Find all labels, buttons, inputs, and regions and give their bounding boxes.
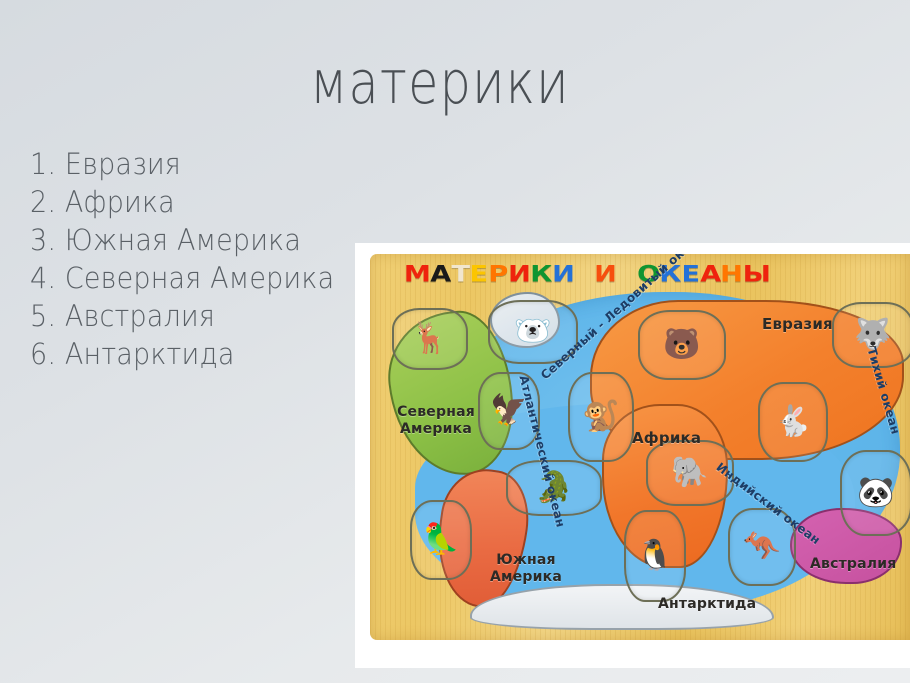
headline-letter: А xyxy=(430,265,452,287)
list-item: 6. Антарктида xyxy=(30,335,334,373)
continent-list: 1. Евразия 2. Африка 3. Южная Америка 4.… xyxy=(30,145,334,373)
penguin-piece[interactable]: 🐧 xyxy=(624,510,686,602)
polar-bear-icon: 🐻‍❄️ xyxy=(514,317,551,347)
page-title: материки xyxy=(79,52,801,115)
parrot-piece[interactable]: 🦜 xyxy=(410,500,472,580)
photo-bottom-margin xyxy=(355,640,910,668)
hare-piece[interactable]: 🐇 xyxy=(758,382,828,462)
moose-icon: 🦌 xyxy=(411,324,448,354)
list-item: 5. Австралия xyxy=(30,297,334,335)
headline-letter: К xyxy=(530,265,553,287)
board-label-australia: Австралия xyxy=(810,556,896,573)
list-item: 1. Евразия xyxy=(30,145,334,183)
penguin-icon: 🐧 xyxy=(636,541,673,571)
board-label-africa: Африка xyxy=(632,430,701,448)
list-item: 2. Африка xyxy=(30,183,334,221)
headline-letter: М xyxy=(404,265,432,287)
panda-icon: 🐼 xyxy=(857,478,894,508)
wooden-puzzle-board: М А Т Е Р И К И И О К Е А Н Ы xyxy=(370,254,910,640)
list-item: 4. Северная Америка xyxy=(30,259,334,297)
list-item: 3. Южная Америка xyxy=(30,221,334,259)
photo-top-margin xyxy=(355,243,910,254)
hare-icon: 🐇 xyxy=(774,407,811,437)
monkey-icon: 🐒 xyxy=(582,402,619,432)
headline-letter: И xyxy=(508,265,532,287)
headline-letter: И xyxy=(552,265,576,287)
board-label-eurasia: Евразия xyxy=(762,316,833,334)
board-label-south-america: Южная Америка xyxy=(480,552,572,585)
kangaroo-icon: 🦘 xyxy=(743,532,780,562)
wolf-icon: 🐺 xyxy=(854,320,891,350)
board-label-antarctica: Антарктида xyxy=(658,596,756,613)
moose-piece[interactable]: 🦌 xyxy=(392,308,468,370)
monkey-piece[interactable]: 🐒 xyxy=(568,372,634,462)
headline-letter: Ы xyxy=(742,265,771,287)
board-label-north-america: Северная Америка xyxy=(388,404,484,437)
brown-bear-icon: 🐻 xyxy=(663,330,700,360)
headline-letter: Е xyxy=(470,265,490,287)
puzzle-map-photo: М А Т Е Р И К И И О К Е А Н Ы xyxy=(355,243,910,668)
panda-piece[interactable]: 🐼 xyxy=(840,450,910,536)
presentation-slide: материки 1. Евразия 2. Африка 3. Южная А… xyxy=(0,0,910,683)
headline-letter: Е xyxy=(681,265,701,287)
headline-letter: Р xyxy=(489,265,510,287)
headline-letter: А xyxy=(700,265,722,287)
brown-bear-piece[interactable]: 🐻 xyxy=(638,310,726,380)
elephant-icon: 🐘 xyxy=(671,458,708,488)
parrot-icon: 🦜 xyxy=(422,525,459,555)
photo-left-margin xyxy=(355,243,370,668)
headline-letter: И xyxy=(594,265,618,287)
headline-letter: Т xyxy=(451,265,471,287)
headline-letter: Н xyxy=(721,265,745,287)
